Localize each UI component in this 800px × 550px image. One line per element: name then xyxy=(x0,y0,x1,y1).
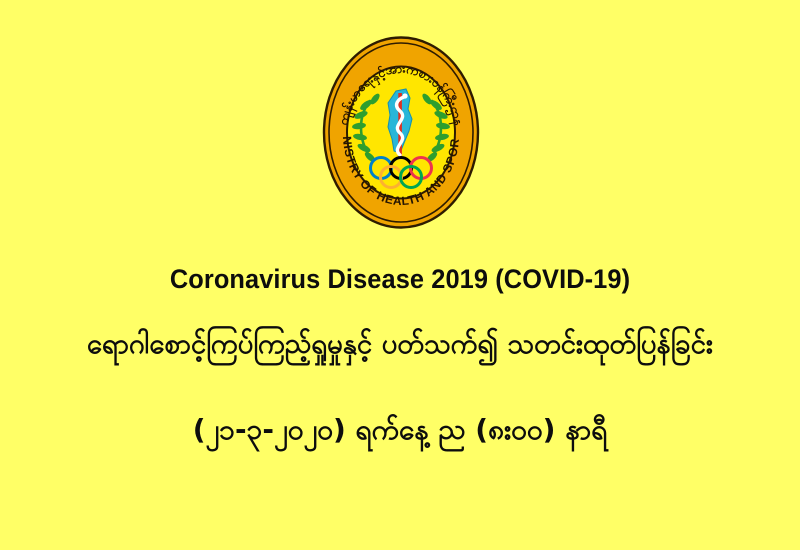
announcement-datetime-myanmar: (၂၁-၃-၂၀၂၀) ရက်နေ့ ည (၈း၀၀) နာရီ xyxy=(0,408,800,452)
page-title-english: Coronavirus Disease 2019 (COVID-19) xyxy=(24,262,776,296)
announcement-slide: ကျန်းမာရေးနှင့်အားကစားဝန်ကြီးဌာန MINISTR… xyxy=(0,0,800,550)
snake-head-icon xyxy=(402,93,407,98)
ministry-logo: ကျန်းမာရေးနှင့်အားကစားဝန်ကြီးဌာန MINISTR… xyxy=(322,35,480,230)
ministry-seal-icon: ကျန်းမာရေးနှင့်အားကစားဝန်ကြီးဌာန MINISTR… xyxy=(322,35,480,230)
announcement-text-block: Coronavirus Disease 2019 (COVID-19) ရောဂ… xyxy=(0,262,800,452)
page-title-myanmar: ရောဂါစောင့်ကြပ်ကြည့်ရှုမှုနှင့် ပတ်သက်၍ … xyxy=(8,322,792,366)
